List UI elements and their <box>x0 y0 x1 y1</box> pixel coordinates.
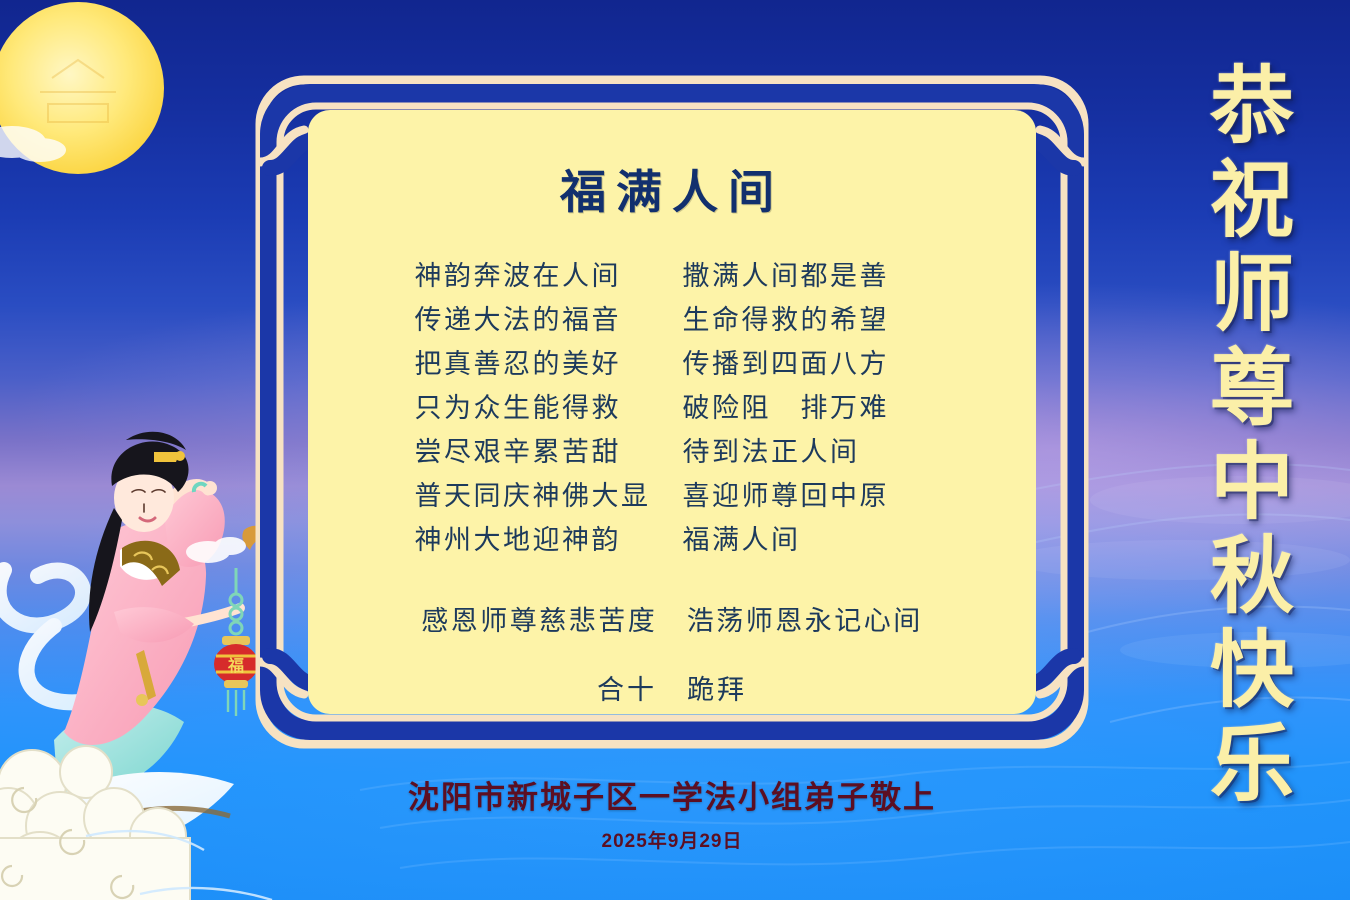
poem-signoff: 合十 跪拜 <box>597 668 747 707</box>
signature-date: 2025年9月29日 <box>252 826 1092 853</box>
poem-line: 神州大地迎神韵 福满人间 <box>415 520 930 561</box>
poem-line-left: 尝尽艰辛累苦甜 <box>415 432 683 473</box>
vertical-greeting: 恭 祝 师 尊 中 秋 快 乐 <box>1192 60 1312 810</box>
greeting-char: 秋 <box>1210 530 1294 622</box>
poem-line-right: 传播到四面八方 <box>683 344 890 385</box>
poem-line-left: 只为众生能得救 <box>415 388 683 429</box>
poem-line: 普天同庆神佛大显 喜迎师尊回中原 <box>415 476 930 517</box>
poem-title: 福满人间 <box>560 156 784 222</box>
greeting-char: 中 <box>1210 436 1294 528</box>
poem-body: 神韵奔波在人间 撒满人间都是善 传递大法的福音 生命得救的希望 把真善忍的美好 … <box>342 256 1002 561</box>
poem-line: 传递大法的福音 生命得救的希望 <box>415 300 930 341</box>
poem-line-left: 传递大法的福音 <box>415 300 683 341</box>
greeting-char: 尊 <box>1210 342 1294 434</box>
poem-closing-line: 感恩师尊慈悲苦度 浩荡师恩永记心间 <box>421 599 923 638</box>
svg-text:福: 福 <box>227 656 244 675</box>
poem-line: 把真善忍的美好 传播到四面八方 <box>415 344 930 385</box>
poem-line-right: 破险阻 排万难 <box>683 388 890 429</box>
signature-sender: 沈阳市新城子区一学法小组弟子敬上 <box>252 772 1092 817</box>
poem-line-right: 福满人间 <box>683 520 801 561</box>
greeting-char: 恭 <box>1210 60 1294 152</box>
poem-line-left: 把真善忍的美好 <box>415 344 683 385</box>
greeting-card-image: 福 <box>0 0 1350 900</box>
greeting-char: 乐 <box>1210 718 1294 810</box>
signature-block: 沈阳市新城子区一学法小组弟子敬上 2025年9月29日 <box>252 772 1092 853</box>
greeting-char: 师 <box>1210 248 1294 340</box>
poem-line-right: 待到法正人间 <box>683 432 860 473</box>
greeting-char: 祝 <box>1210 154 1294 246</box>
poem-line: 尝尽艰辛累苦甜 待到法正人间 <box>415 432 930 473</box>
poem-line: 神韵奔波在人间 撒满人间都是善 <box>415 256 930 297</box>
poem-line-left: 普天同庆神佛大显 <box>415 476 683 517</box>
poem-line-left: 神韵奔波在人间 <box>415 256 683 297</box>
poem-line-right: 喜迎师尊回中原 <box>683 476 890 517</box>
poem-card: 福满人间 神韵奔波在人间 撒满人间都是善 传递大法的福音 生命得救的希望 把真善… <box>308 110 1036 714</box>
card-frame: 福满人间 神韵奔波在人间 撒满人间都是善 传递大法的福音 生命得救的希望 把真善… <box>252 72 1092 752</box>
poem-line-right: 撒满人间都是善 <box>683 256 890 297</box>
poem-line-left: 神州大地迎神韵 <box>415 520 683 561</box>
poem-line: 只为众生能得救 破险阻 排万难 <box>415 388 930 429</box>
greeting-char: 快 <box>1210 624 1294 716</box>
poem-line-right: 生命得救的希望 <box>683 300 890 341</box>
